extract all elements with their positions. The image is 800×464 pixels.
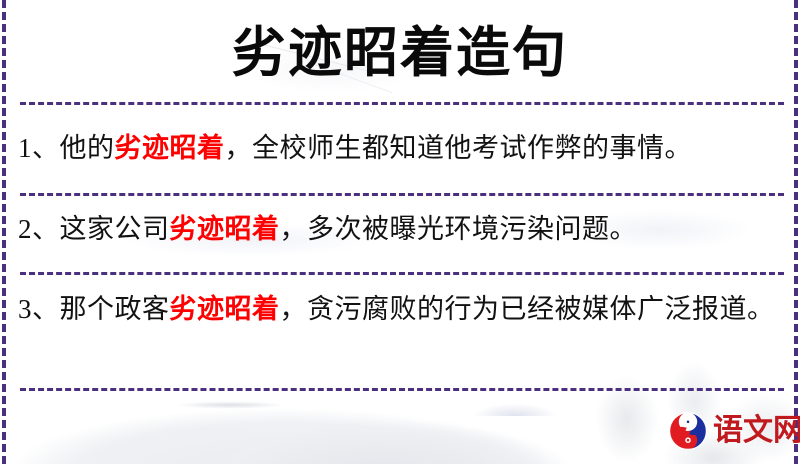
sentence-2-idiom-highlight: 劣迹昭着 — [170, 214, 280, 244]
example-sentence-2: 2、这家公司劣迹昭着，多次被曝光环境污染问题。 — [18, 208, 776, 250]
example-sentence-1: 1、他的劣迹昭着，全校师生都知道他考试作弊的事情。 — [18, 127, 776, 169]
yinyang-fish-circle-icon — [668, 411, 708, 451]
site-watermark-logo: 语文网 — [668, 411, 800, 451]
sentence-2-text-before: 这家公司 — [60, 214, 170, 244]
sentence-2-text-after: ，多次被曝光环境污染问题。 — [280, 214, 638, 244]
page-root: 劣迹昭着造句 1、他的劣迹昭着，全校师生都知道他考试作弊的事情。 2、这家公司劣… — [0, 0, 800, 464]
site-name-label: 语文网 — [713, 416, 800, 446]
page-title: 劣迹昭着造句 — [0, 20, 800, 86]
content-area: 劣迹昭着造句 1、他的劣迹昭着，全校师生都知道他考试作弊的事情。 2、这家公司劣… — [0, 0, 800, 464]
divider-after-sentence-3 — [20, 388, 784, 391]
sentence-1-idiom-highlight: 劣迹昭着 — [115, 133, 225, 163]
sentence-1-index: 1、 — [18, 133, 60, 163]
sentence-3-text-before: 那个政客 — [60, 294, 170, 324]
sentence-3-index: 3、 — [18, 294, 60, 324]
divider-after-sentence-1 — [20, 193, 784, 196]
sentence-3-idiom-highlight: 劣迹昭着 — [170, 294, 280, 324]
sentence-2-index: 2、 — [18, 214, 60, 244]
sentence-1-text-before: 他的 — [60, 133, 115, 163]
divider-after-sentence-2 — [20, 272, 784, 275]
sentence-1-text-after: ，全校师生都知道他考试作弊的事情。 — [225, 133, 693, 163]
sentence-3-text-after: ，贪污腐败的行为已经被媒体广泛报道。 — [280, 294, 775, 324]
example-sentence-3: 3、那个政客劣迹昭着，贪污腐败的行为已经被媒体广泛报道。 — [18, 288, 776, 330]
divider-top — [20, 102, 784, 105]
